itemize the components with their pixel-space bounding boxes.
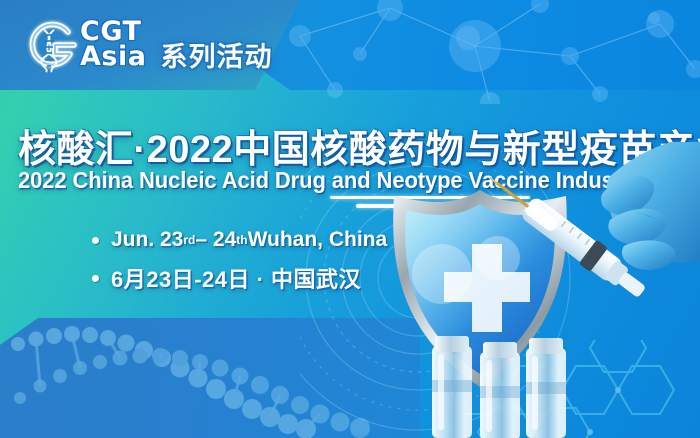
molecule-network-icon [240, 0, 700, 104]
logo-series-label: 系列活动 [160, 35, 272, 76]
date-line-chinese: 6月23日-24日 · 中国武汉 [92, 262, 387, 294]
date-en-sup-2: th [236, 233, 247, 247]
date-en-suffix: Wuhan, China [248, 228, 388, 252]
date-en-sup-1: rd [183, 233, 195, 247]
syringe-in-gloved-hand-icon [490, 142, 700, 372]
date-en-mid: – 24 [195, 228, 236, 252]
date-en-prefix: Jun. 23 [111, 228, 183, 252]
logo-wordmark: CGT Asia [80, 20, 146, 70]
vaccine-artwork [370, 150, 700, 438]
cgt-asia-dna-logo-icon [22, 14, 84, 76]
bullet-icon [92, 275, 99, 282]
conference-banner: CGT Asia 系列活动 核酸汇·2022中国核酸药物与新型疫苗产业大会 20… [0, 0, 700, 438]
logo[interactable]: CGT Asia 系列活动 [22, 14, 272, 76]
date-line-english: Jun. 23rd – 24th Wuhan, China [92, 228, 387, 252]
logo-line-asia: Asia [80, 45, 146, 70]
date-cn-text: 6月23日-24日 · 中国武汉 [111, 262, 361, 294]
event-dates: Jun. 23rd – 24th Wuhan, China 6月23日-24日 … [92, 228, 387, 294]
bullet-icon [92, 237, 99, 244]
